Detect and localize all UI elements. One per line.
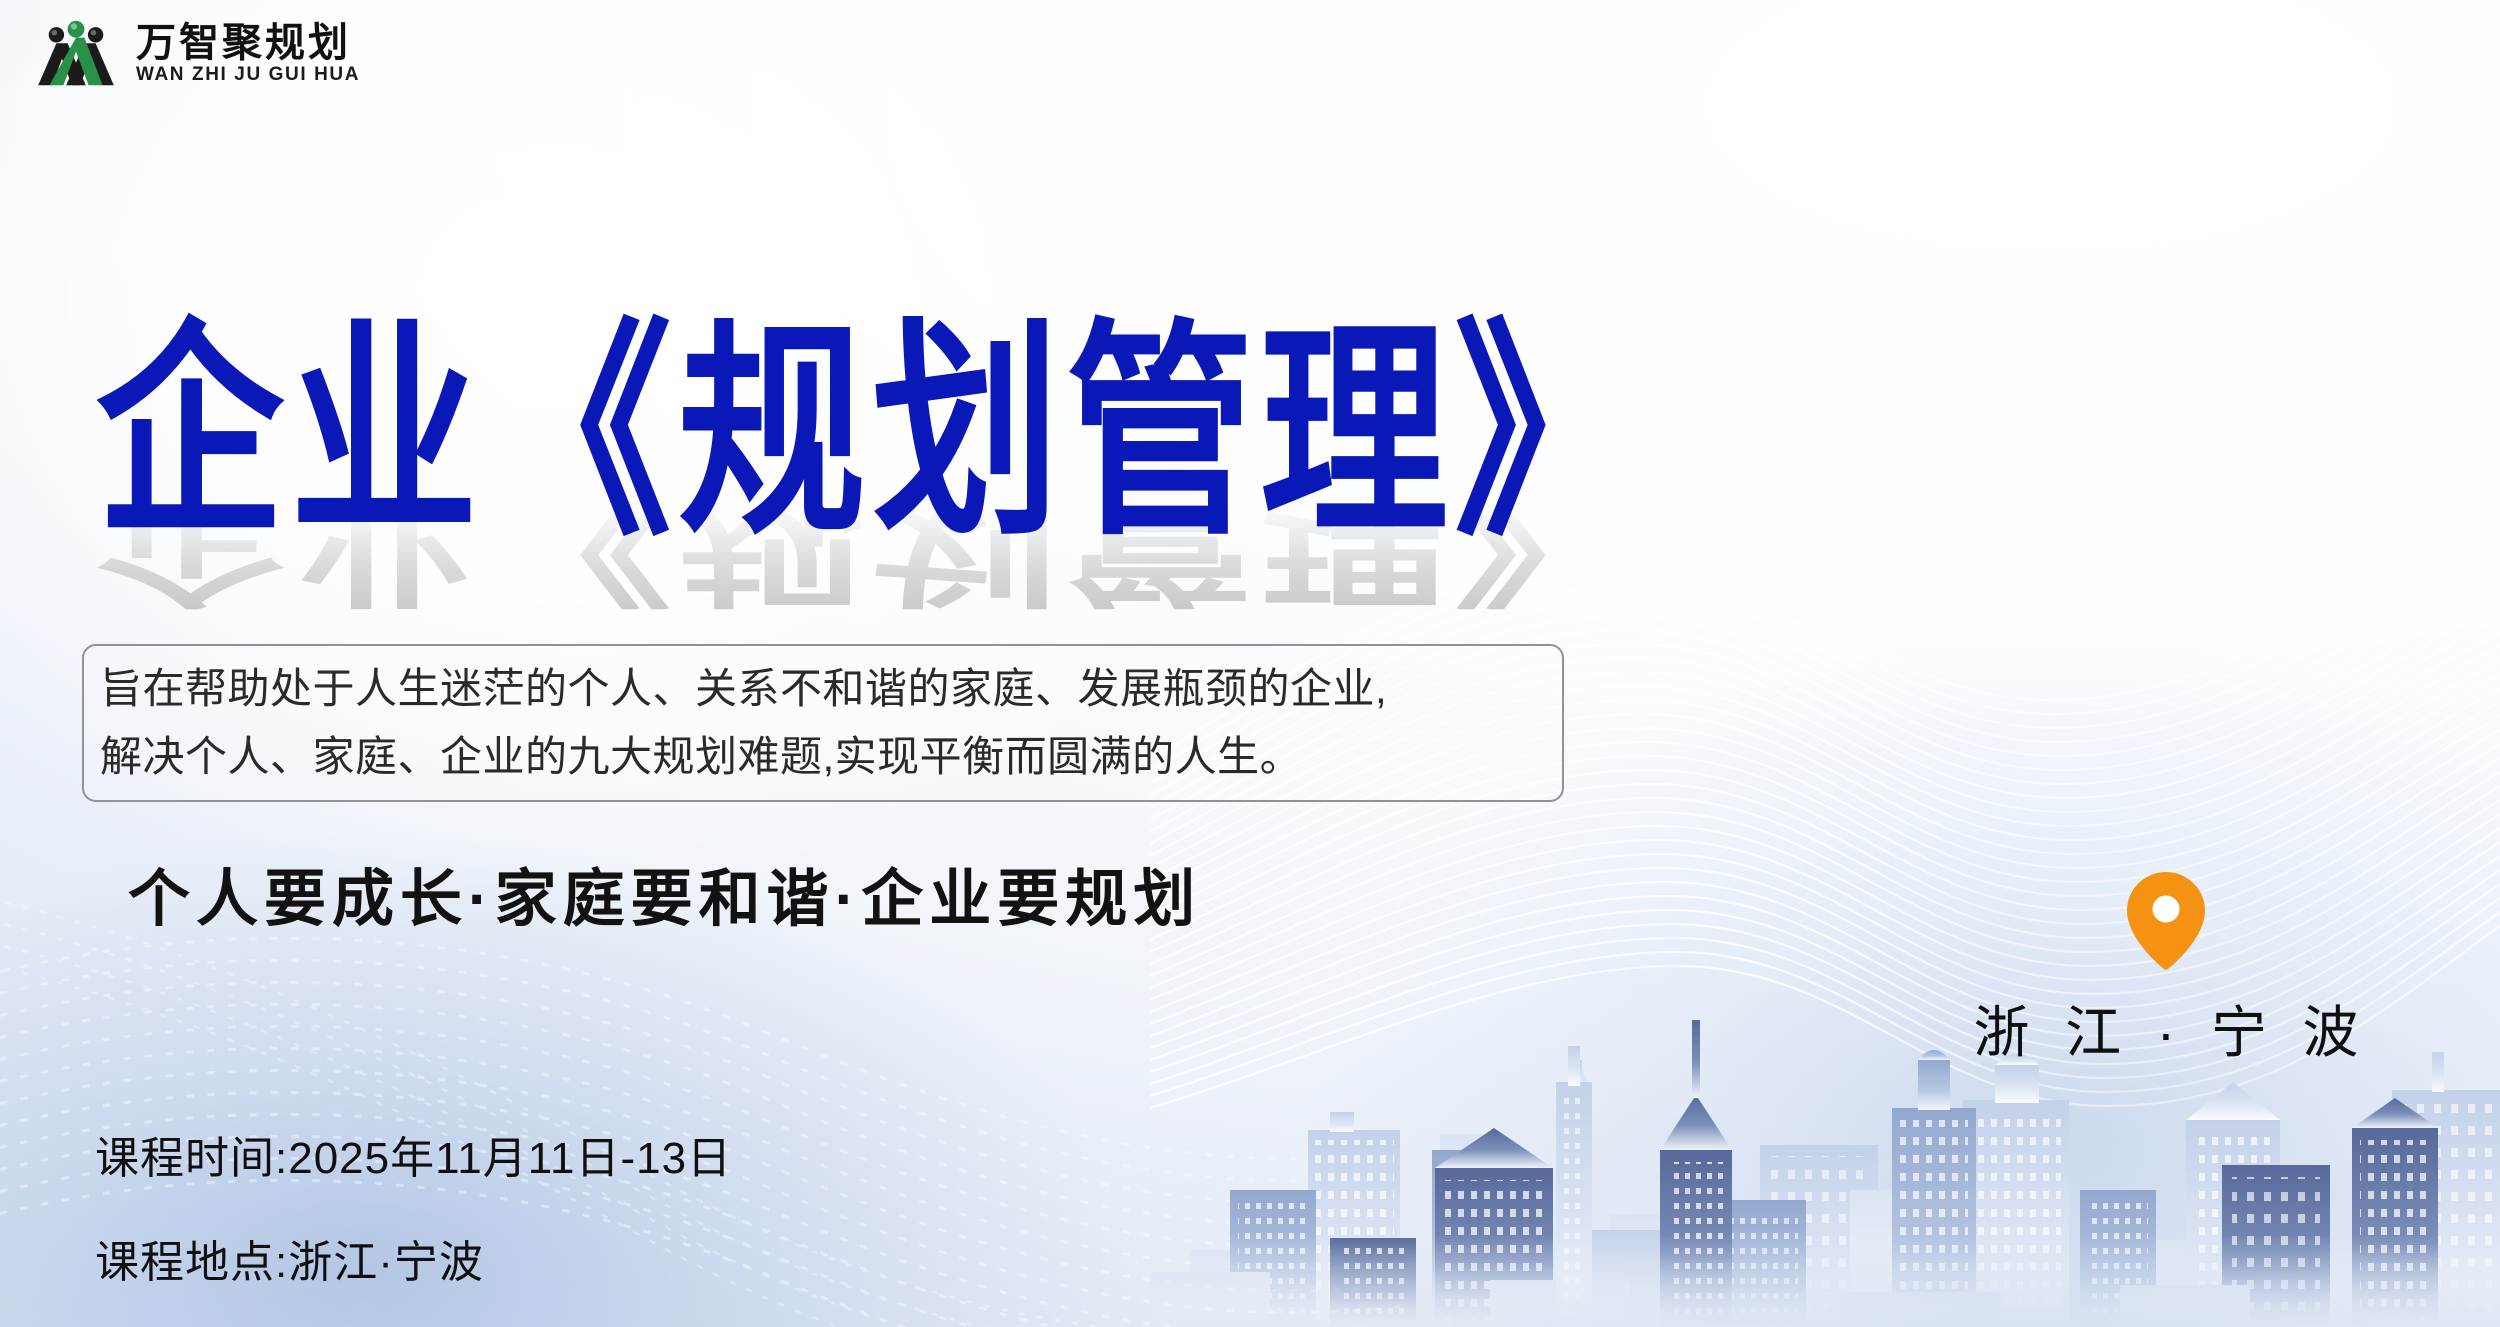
poster-canvas: 万智聚规划 WAN ZHI JU GUI HUA 企业《规划管理》 企业《规划管… xyxy=(0,0,2500,1327)
map-pin-icon xyxy=(2127,872,2205,970)
course-info: 课程时间:2025年11月11日-13日 课程地点:浙江·宁波 xyxy=(95,1122,732,1290)
hero-title-block: 企业《规划管理》 企业《规划管理》 xyxy=(96,318,1656,588)
brand-name-cn: 万智聚规划 xyxy=(136,23,360,63)
course-location: 课程地点:浙江·宁波 xyxy=(95,1226,732,1290)
brand-logo-text: 万智聚规划 WAN ZHI JU GUI HUA xyxy=(136,23,360,84)
brand-logo[interactable]: 万智聚规划 WAN ZHI JU GUI HUA xyxy=(34,18,360,88)
hero-slogan: 个人要成长·家庭要和谐·企业要规划 xyxy=(128,848,1201,938)
course-time: 课程时间:2025年11月11日-13日 xyxy=(95,1122,732,1186)
three-people-m-logo-icon xyxy=(34,18,118,88)
description-box: 旨在帮助处于人生迷茫的个人、关系不和谐的家庭、发展瓶颈的企业, 解决个人、家庭、… xyxy=(82,644,1564,802)
description-line-1: 旨在帮助处于人生迷茫的个人、关系不和谐的家庭、发展瓶颈的企业, xyxy=(100,655,1546,723)
page-title: 企业《规划管理》 xyxy=(96,318,1656,547)
description-line-2: 解决个人、家庭、企业的九大规划难题,实现平衡而圆满的人生。 xyxy=(100,723,1546,791)
location-label: 浙 江 · 宁 波 xyxy=(1964,988,2369,1069)
brand-name-pinyin: WAN ZHI JU GUI HUA xyxy=(136,65,360,84)
location-block: 浙 江 · 宁 波 xyxy=(1956,872,2376,1069)
